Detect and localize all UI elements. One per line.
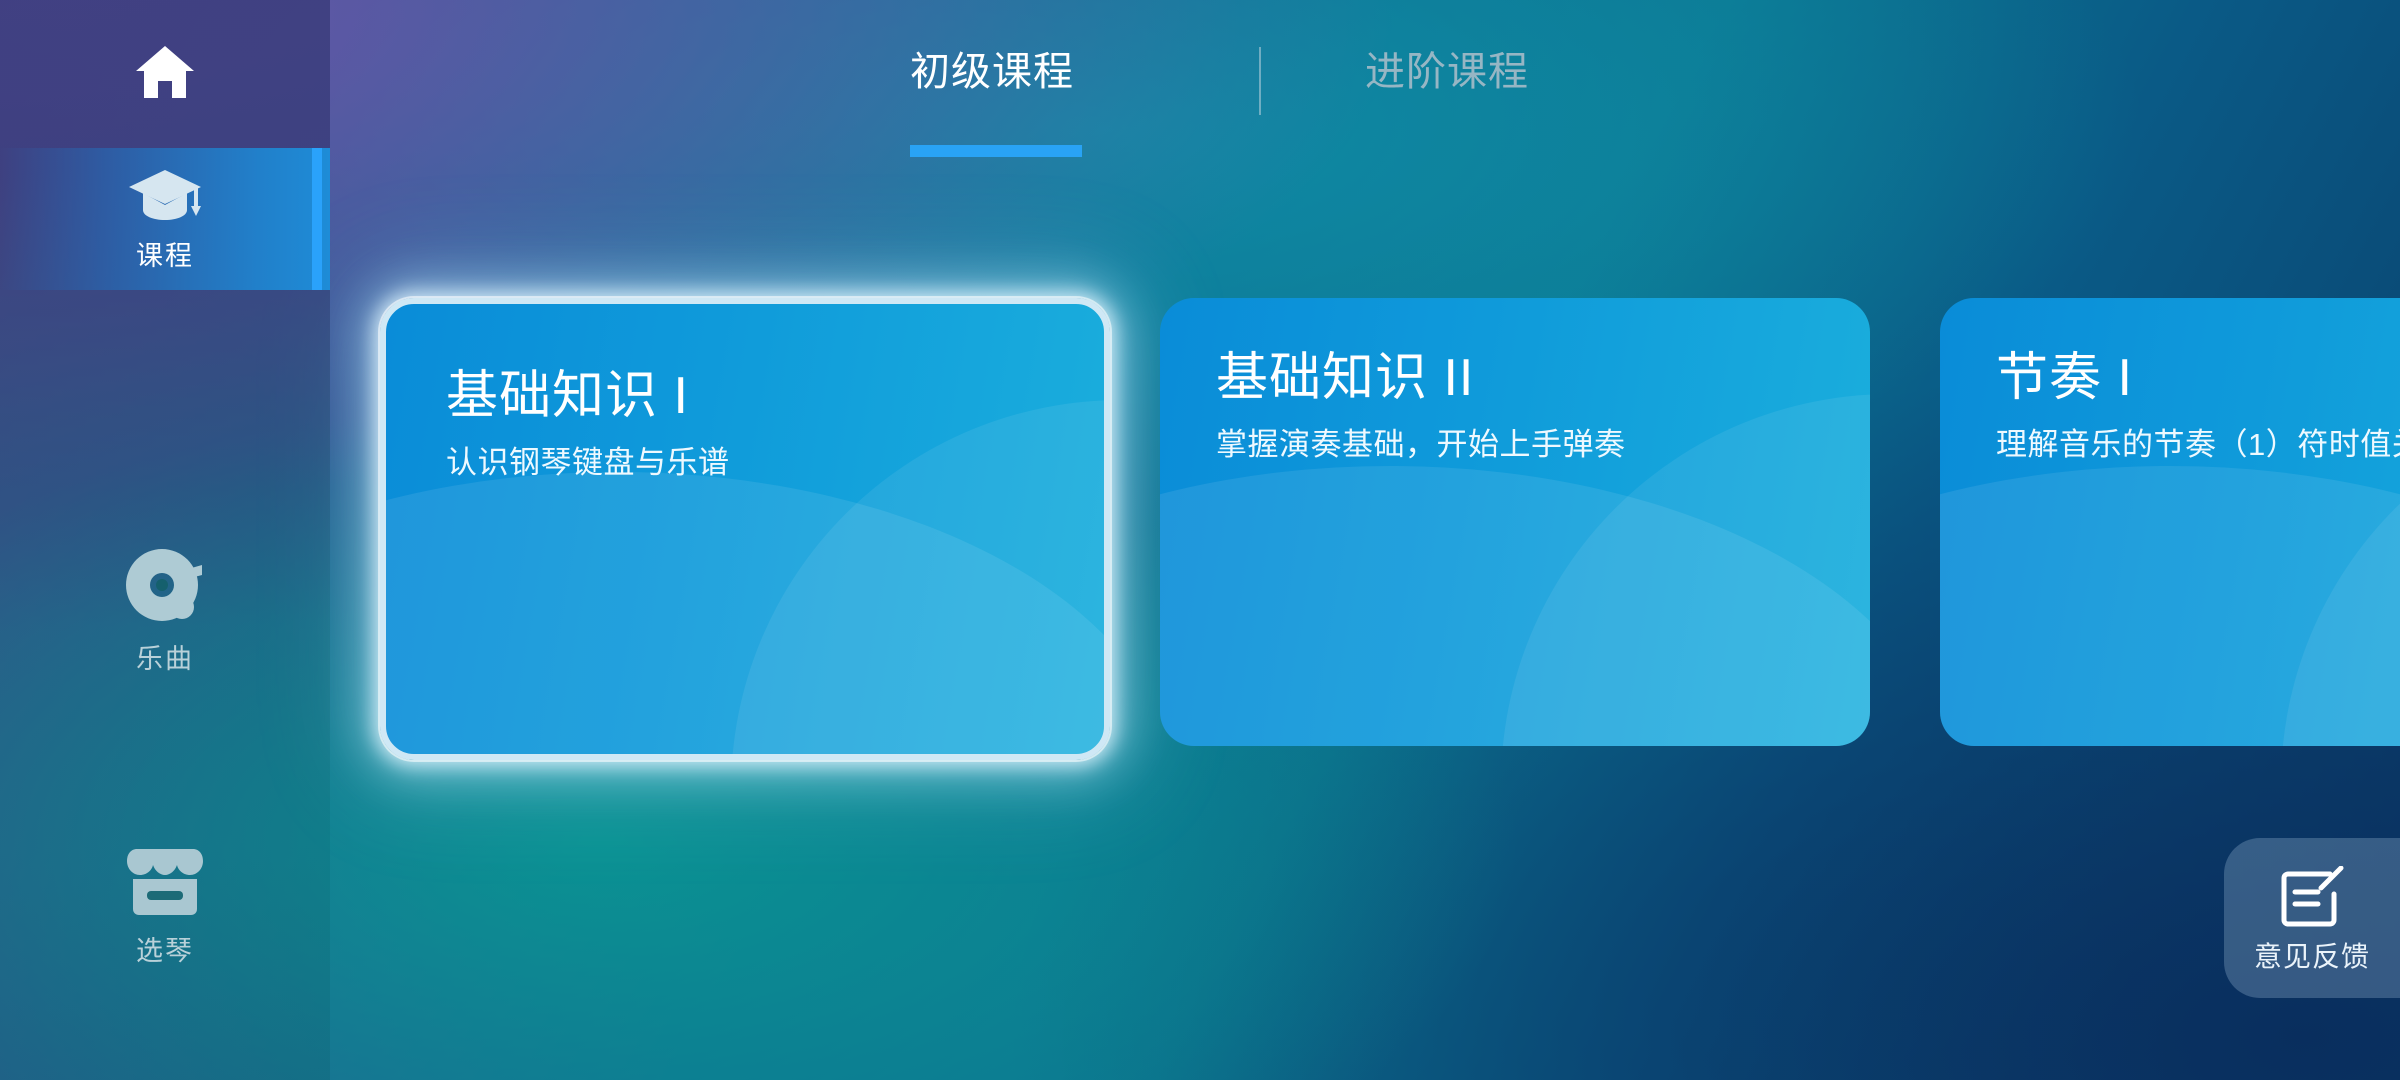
course-card-list: 基础知识 I 认识钢琴键盘与乐谱 基础知识 II 掌握演奏基础，开始上手弹奏 节… [0, 298, 2400, 768]
card-decoration-circle [1160, 466, 1870, 746]
sidebar-active-indicator [312, 148, 322, 290]
tab-divider [1259, 47, 1261, 115]
course-card[interactable]: 节奏 I 理解音乐的节奏（1）符时值关系 [1940, 298, 2400, 746]
card-body: 基础知识 I 认识钢琴键盘与乐谱 [386, 304, 1104, 485]
card-subtitle: 认识钢琴键盘与乐谱 [446, 442, 966, 485]
sidebar-item-home[interactable] [0, 0, 330, 148]
tab-bar: 初级课程 进阶课程 [330, 0, 2400, 170]
tab-active-underline [910, 145, 1082, 157]
feedback-button[interactable]: 意见反馈 [2224, 838, 2400, 998]
card-decoration-circle [1940, 466, 2400, 746]
sidebar-item-label: 乐曲 [136, 646, 194, 673]
sidebar-item-store[interactable]: 选琴 [0, 800, 330, 1010]
card-title: 基础知识 I [446, 368, 1104, 424]
graduation-cap-icon [127, 168, 203, 229]
feedback-edit-icon [2278, 866, 2346, 937]
card-body: 基础知识 II 掌握演奏基础，开始上手弹奏 [1160, 298, 1870, 467]
store-icon [125, 845, 205, 924]
card-subtitle: 掌握演奏基础，开始上手弹奏 [1216, 424, 1856, 467]
tab-beginner[interactable]: 初级课程 [910, 52, 1074, 92]
card-body: 节奏 I 理解音乐的节奏（1）符时值关系 [1940, 298, 2400, 467]
music-disc-icon [124, 547, 206, 632]
sidebar-item-course[interactable]: 课程 [0, 148, 330, 290]
home-icon [134, 43, 196, 106]
card-decoration-circle [380, 472, 1110, 760]
card-title: 基础知识 II [1216, 350, 1870, 406]
tab-advanced[interactable]: 进阶课程 [1365, 52, 1529, 92]
sidebar-item-label: 选琴 [136, 938, 194, 965]
sidebar-item-songs[interactable]: 乐曲 [0, 510, 330, 710]
course-card-selected[interactable]: 基础知识 I 认识钢琴键盘与乐谱 [380, 298, 1110, 760]
card-title: 节奏 I [1996, 350, 2400, 406]
sidebar-item-label: 课程 [136, 243, 194, 270]
card-subtitle: 理解音乐的节奏（1）符时值关系 [1996, 424, 2400, 467]
feedback-label: 意见反馈 [2254, 943, 2370, 971]
sidebar-nav: 课程 乐曲 选琴 [0, 0, 330, 1080]
course-card[interactable]: 基础知识 II 掌握演奏基础，开始上手弹奏 [1160, 298, 1870, 746]
